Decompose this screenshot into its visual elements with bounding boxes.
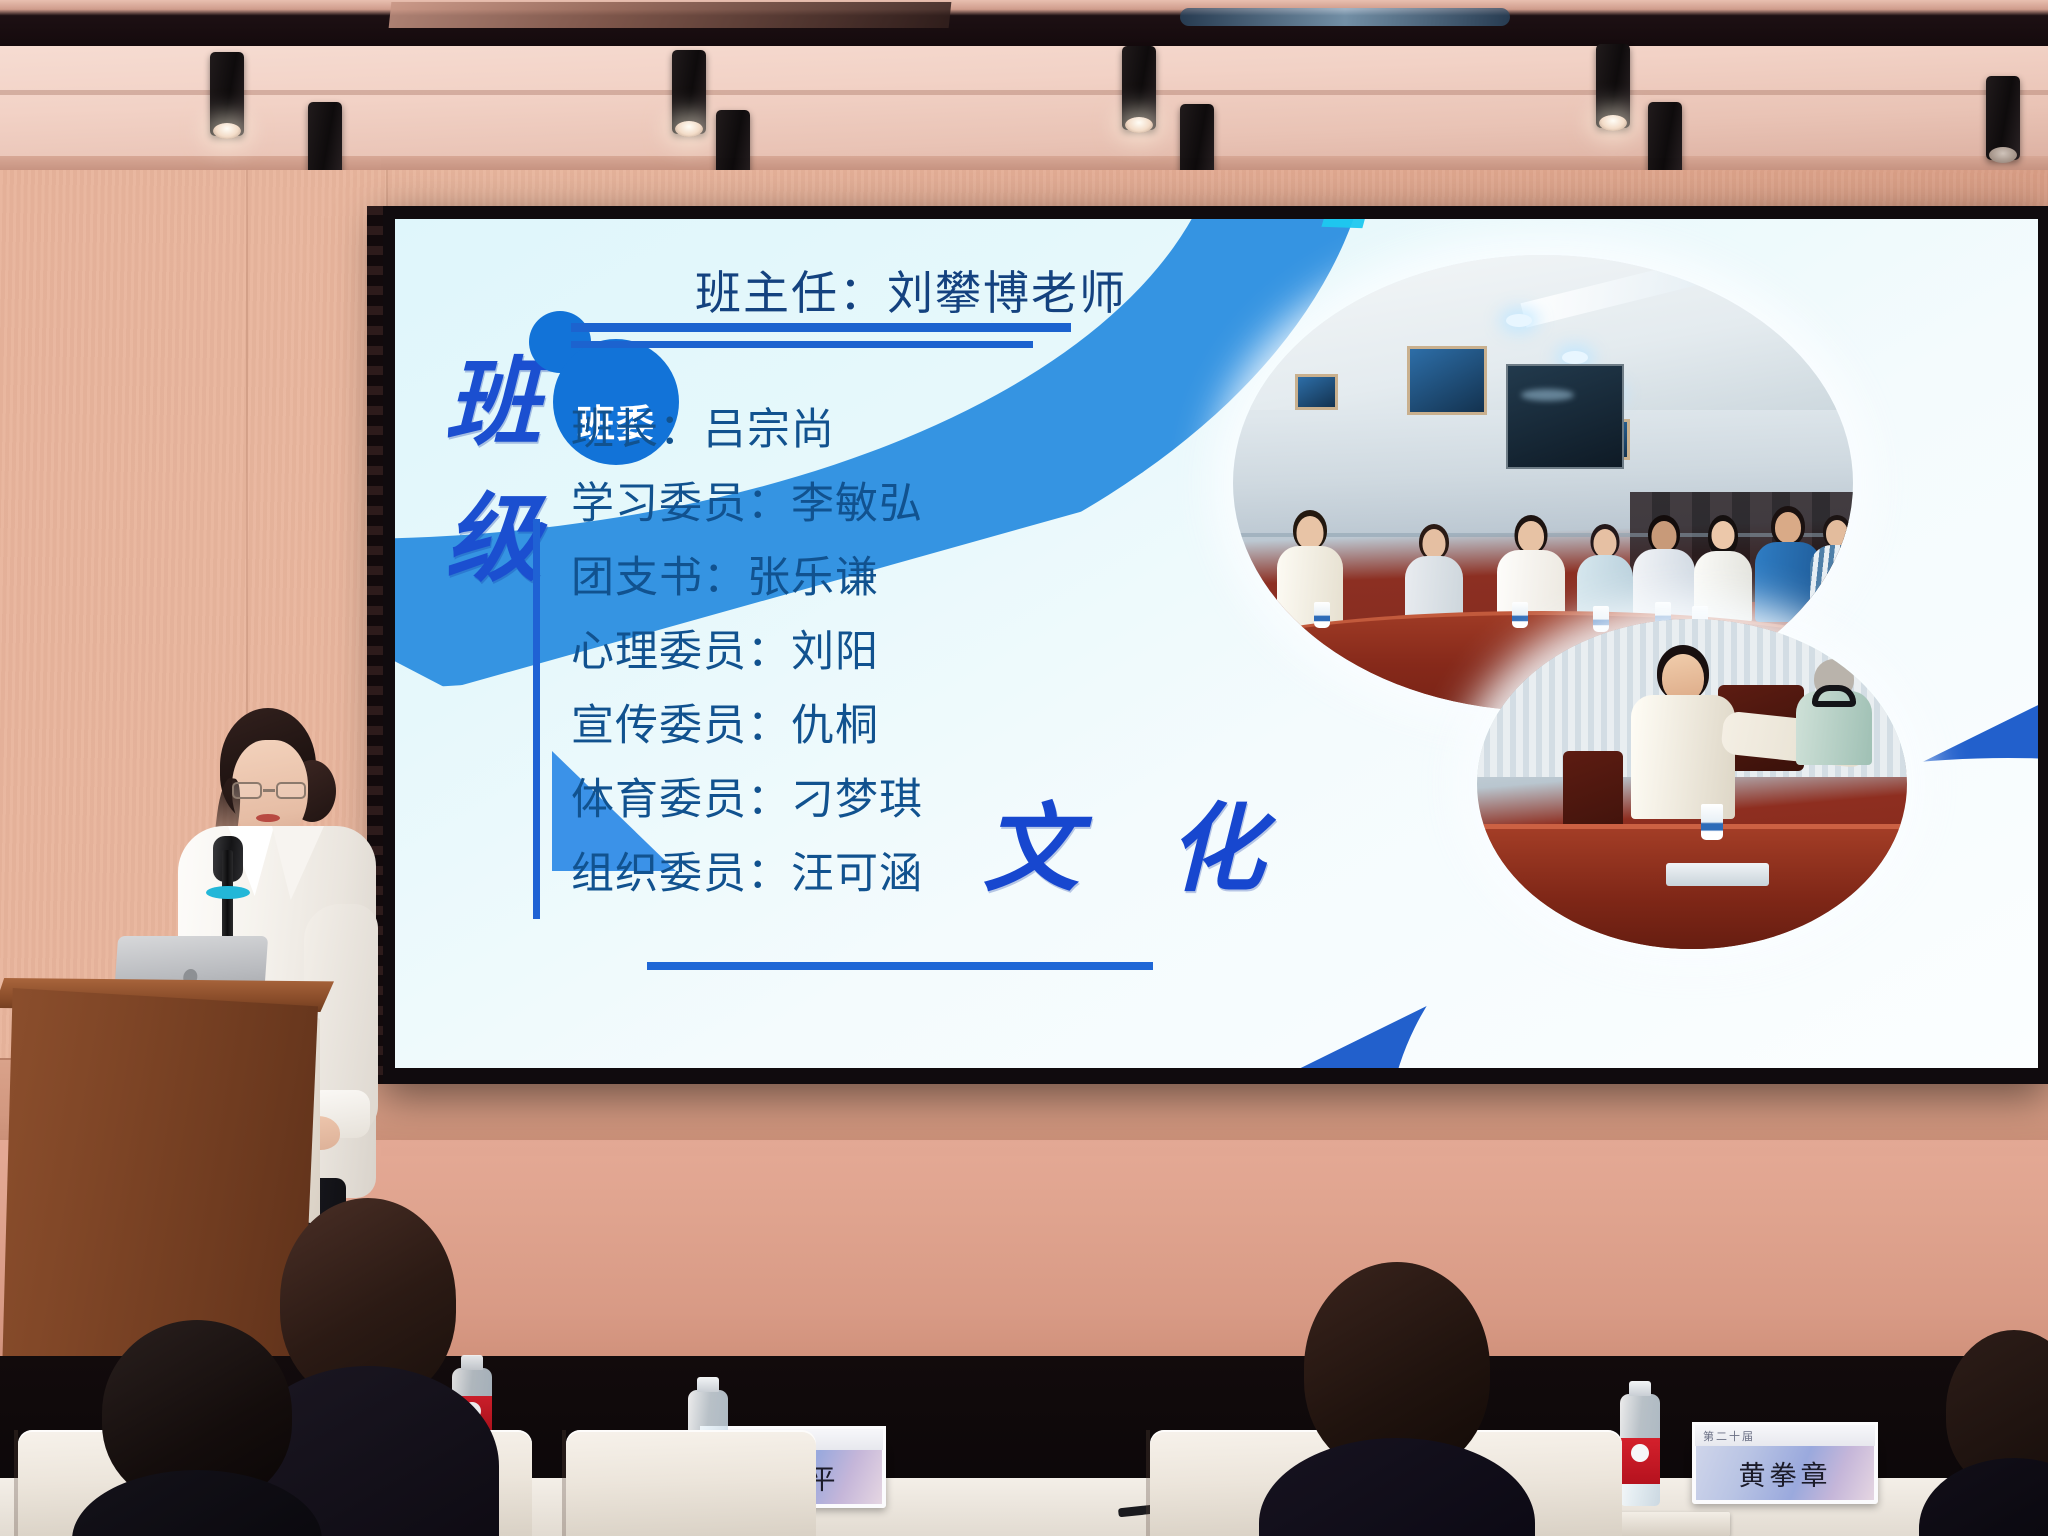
photo-paper <box>1666 863 1769 886</box>
microphone-ring <box>206 886 250 899</box>
header-rule <box>571 323 1071 332</box>
header-rule <box>571 341 1033 348</box>
projection-screen-frame: 班级 班委 班主任：刘攀博老师 班长：吕宗尚 学习委员：李敏弘 团支书：张乐谦 … <box>381 206 2048 1084</box>
roster-row: 学习委员：李敏弘 <box>571 483 1131 526</box>
teacher-speaking-photo <box>1477 619 1907 949</box>
footer-rule <box>647 962 1153 970</box>
photo-downlight-icon <box>1562 351 1588 364</box>
ceiling-diffuser <box>1180 8 1510 26</box>
photo-wall-monitor <box>1506 364 1624 469</box>
lips <box>256 814 280 822</box>
photo-cup-icon <box>1701 804 1723 840</box>
track-light-icon <box>1986 76 2020 160</box>
photo-desk <box>1477 824 1907 949</box>
photo-cup-icon <box>1314 602 1330 628</box>
vertical-accent-line <box>533 519 540 919</box>
roster-row: 宣传委员：仇桐 <box>571 705 1131 748</box>
auditorium-scene: 班级 班委 班主任：刘攀博老师 班长：吕宗尚 学习委员：李敏弘 团支书：张乐谦 … <box>0 0 2048 1536</box>
audience-member <box>82 1320 312 1536</box>
roster-row: 团支书：张乐谦 <box>571 557 1131 600</box>
slide-title-left: 班级 <box>419 335 569 608</box>
ceiling-vent <box>389 2 952 28</box>
track-light-icon <box>210 52 244 136</box>
slide-title-right: 文 化 <box>983 771 1292 910</box>
audience-member <box>1262 1262 1532 1536</box>
homeroom-teacher-line: 班主任：刘攀博老师 <box>695 257 1127 323</box>
photo-person-back <box>1787 659 1882 784</box>
photo-person <box>1810 515 1853 634</box>
audience-member <box>1934 1330 2048 1536</box>
track-light-icon <box>1122 46 1156 130</box>
photo-person <box>1270 510 1351 638</box>
track-light-icon <box>672 50 706 134</box>
track-light-icon <box>1596 44 1630 128</box>
ceiling-dark-recess <box>0 0 2048 52</box>
glasses-icon <box>232 782 306 800</box>
roster-row: 心理委员：刘阳 <box>571 631 1131 674</box>
presentation-slide: 班级 班委 班主任：刘攀博老师 班长：吕宗尚 学习委员：李敏弘 团支书：张乐谦 … <box>395 219 2038 1068</box>
audience-chair[interactable] <box>566 1430 816 1536</box>
roster-row: 班长：吕宗尚 <box>571 409 1131 452</box>
photo-headphones-icon <box>1812 685 1856 707</box>
